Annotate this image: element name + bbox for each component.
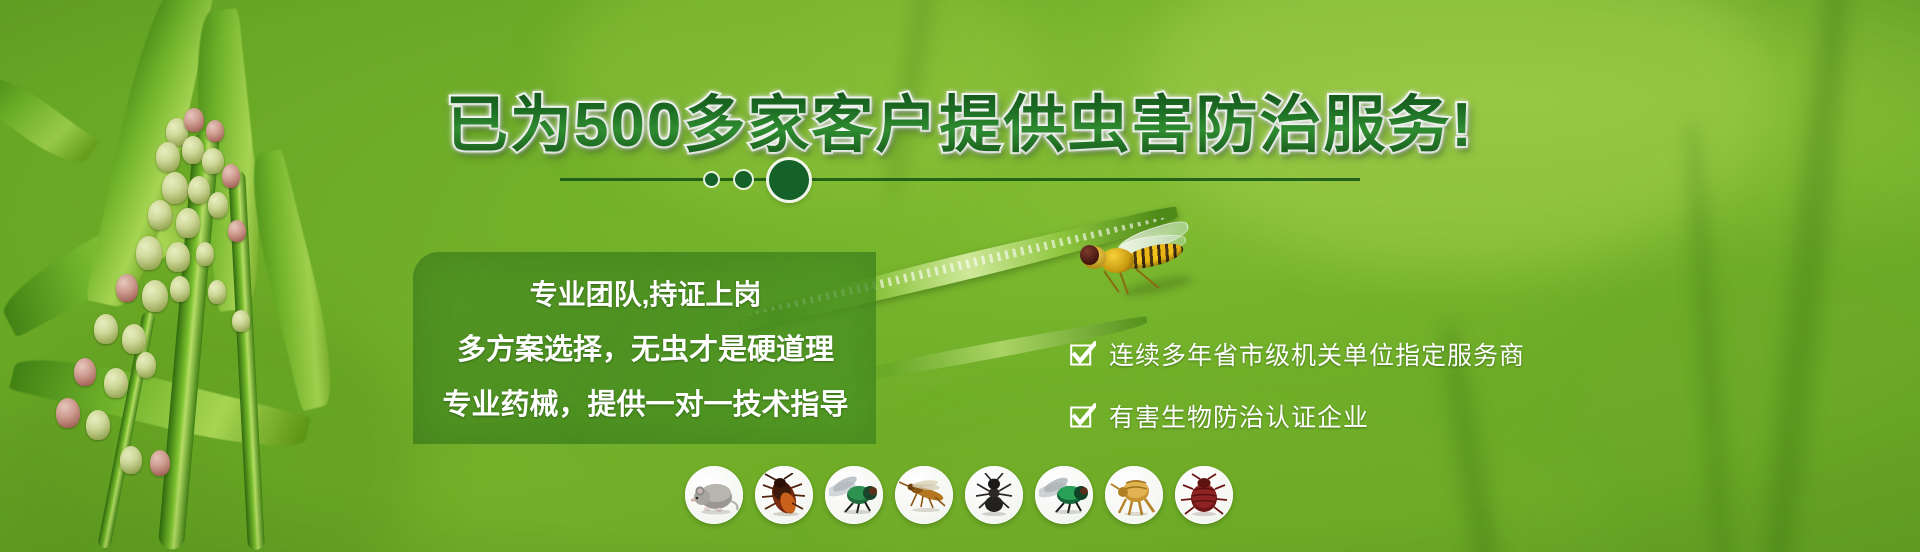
pest-control-hero-banner: 已为500多家客户提供虫害防治服务! 已为500多家客户提供虫害防治服务! 专业…	[0, 0, 1920, 552]
background-vignette	[0, 0, 1920, 552]
